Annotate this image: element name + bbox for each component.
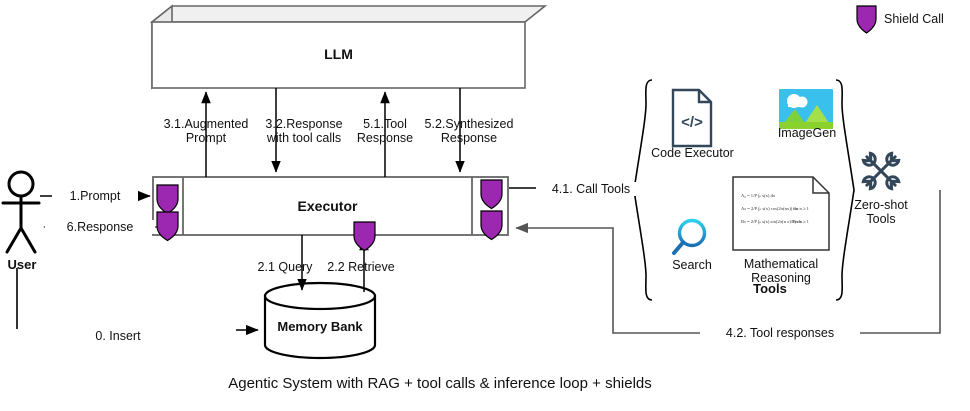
tool-label-imagegen: ImageGen	[768, 126, 846, 140]
edge-label-prompt: 1.Prompt	[52, 189, 138, 203]
llm-label: LLM	[152, 47, 525, 61]
user-label: User	[0, 258, 44, 272]
magnifier-icon	[674, 221, 705, 254]
tool-label-search: Search	[662, 258, 722, 272]
formula-document-icon: A₀ = 1/P ∫ₚ s(x) dx Aₙ = 2/P ∫ₚ s(x) cos…	[733, 177, 829, 250]
svg-text:for n ≥ 1: for n ≥ 1	[793, 206, 810, 211]
tool-label-mathematical-reasoning: Mathematical Reasoning	[722, 257, 840, 285]
diagram-caption: Agentic System with RAG + tool calls & i…	[0, 377, 880, 391]
edge-label-insert: 0. Insert	[0, 329, 236, 343]
edge-label-retrieve: 2.2 Retrieve	[320, 260, 402, 274]
edge-label-synthesized-response: 5.2.Synthesized Response	[404, 117, 534, 145]
edge-label-response: 6.Response	[45, 220, 155, 234]
crossed-wrenches-icon	[863, 153, 900, 190]
shield-icon-memory	[354, 222, 375, 251]
code-document-icon: </>	[673, 90, 711, 146]
tool-label-code-executor: Code Executor	[645, 146, 740, 160]
svg-text:</>: </>	[681, 114, 703, 131]
executor-label: Executor	[183, 199, 472, 213]
shield-icon-legend	[857, 6, 876, 33]
user-icon	[3, 172, 39, 252]
image-picture-icon	[779, 89, 833, 129]
tool-label-zero-shot-tools: Zero-shot Tools	[843, 198, 919, 226]
edge-label-tool-responses: 4.2. Tool responses	[700, 326, 860, 340]
legend-shield-label: Shield Call	[884, 12, 970, 26]
edge-label-call-tools: 4.1. Call Tools	[536, 182, 646, 196]
memory-bank-label: Memory Bank	[265, 320, 375, 334]
diagram-canvas: </> A₀ = 1/P ∫ₚ s(x) dx Aₙ = 2/P ∫ₚ s(x)…	[0, 0, 970, 411]
edge-label-query: 2.1 Query	[253, 260, 317, 274]
shield-icon-out-response	[157, 212, 178, 241]
svg-text:for n ≥ 1: for n ≥ 1	[793, 219, 810, 224]
edge-insert	[17, 268, 258, 330]
